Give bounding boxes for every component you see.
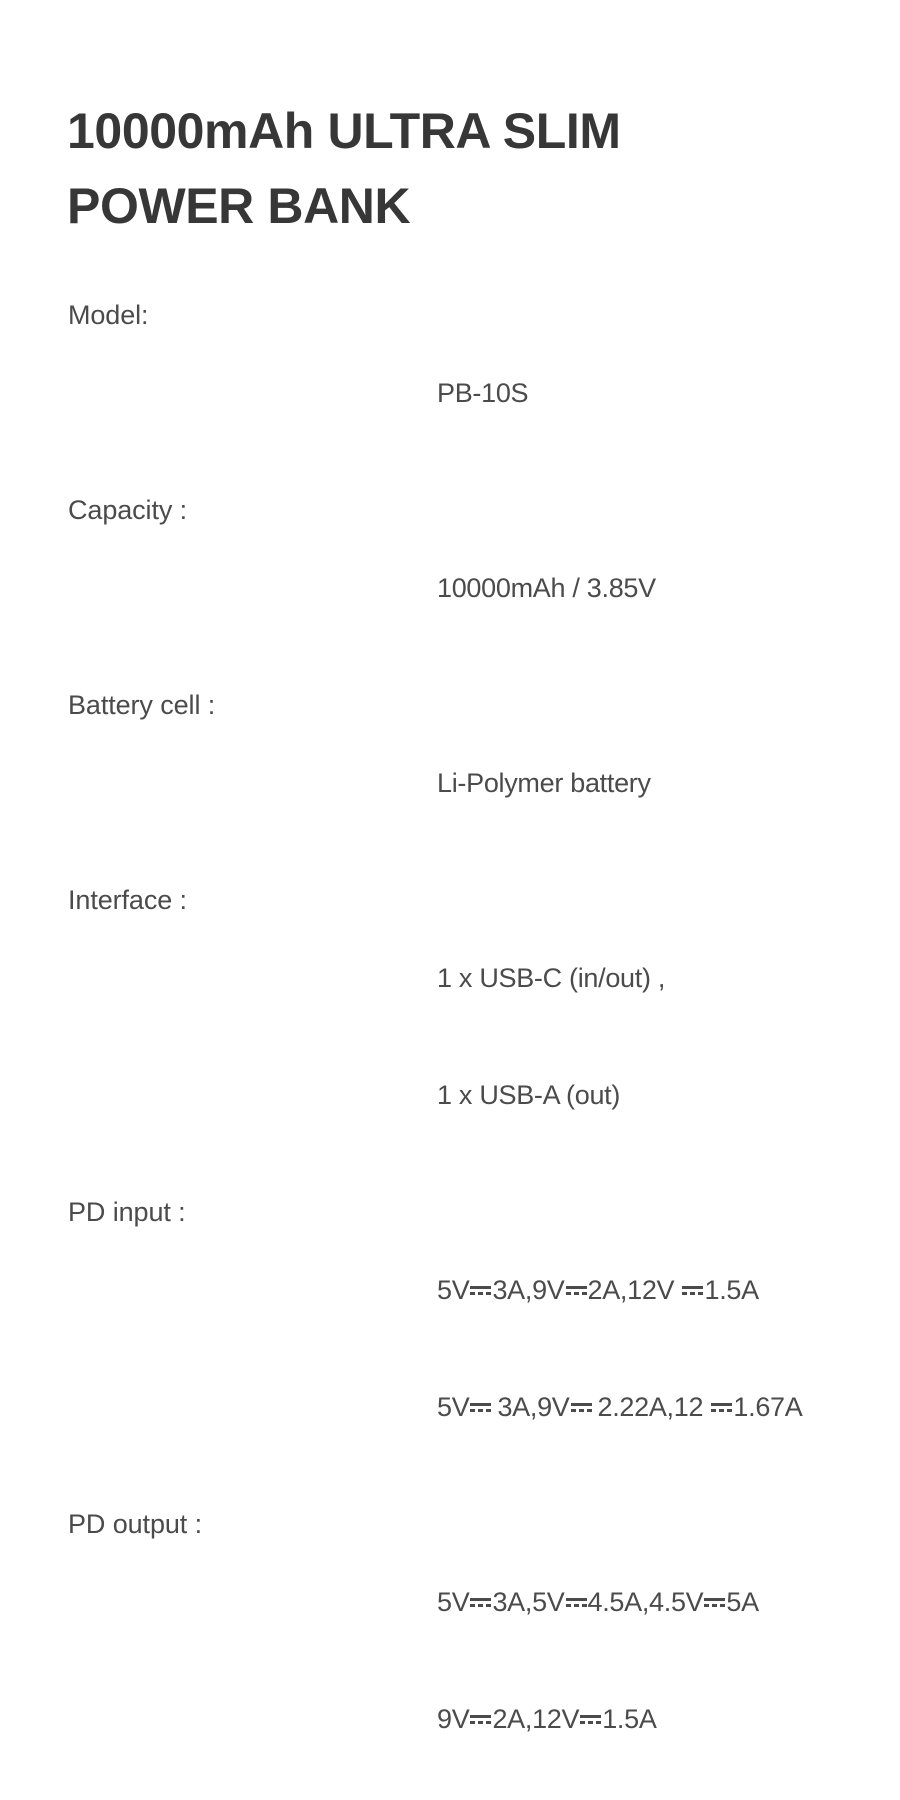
- direct-current-icon: [566, 1283, 587, 1297]
- direct-current-icon: [470, 1595, 491, 1609]
- spec-value: 10000mAh / 3.85V: [437, 569, 888, 608]
- spec-row-pd-output: PD output : 5V3A,5V4.5A,4.5V5A 9V2A,12V1…: [68, 1505, 888, 1800]
- spec-values-battery-cell: Li-Polymer battery: [437, 686, 888, 881]
- spec-label-capacity: Capacity :: [68, 491, 437, 530]
- spec-values-model: PB-10S: [437, 296, 888, 491]
- spec-label-pd-input: PD input :: [68, 1193, 437, 1232]
- spec-values-pd-output: 5V3A,5V4.5A,4.5V5A 9V2A,12V1.5A: [437, 1505, 888, 1800]
- page-title: 10000mAh ULTRA SLIM POWER BANK: [67, 94, 857, 244]
- title-line-1: 10000mAh ULTRA SLIM: [67, 94, 857, 169]
- direct-current-icon: [470, 1400, 491, 1414]
- spec-value-pd-input-line-2: 5V3A,9V2.22A,12 1.67A: [437, 1388, 888, 1427]
- spec-value: 1 x USB-C (in/out) ,: [437, 959, 888, 998]
- direct-current-icon: [682, 1283, 703, 1297]
- spec-row-battery-cell: Battery cell : Li-Polymer battery: [68, 686, 888, 881]
- spec-label-model: Model:: [68, 296, 437, 335]
- spec-label-battery-cell: Battery cell :: [68, 686, 437, 725]
- spec-label-pd-output: PD output :: [68, 1505, 437, 1544]
- product-spec-sheet: 10000mAh ULTRA SLIM POWER BANK Model: PB…: [0, 0, 900, 900]
- spec-values-pd-input: 5V3A,9V2A,12V 1.5A 5V3A,9V2.22A,12 1.67A: [437, 1193, 888, 1505]
- direct-current-icon: [571, 1400, 592, 1414]
- direct-current-icon: [580, 1712, 601, 1726]
- spec-value-pd-output-line-2: 9V2A,12V1.5A: [437, 1700, 888, 1739]
- spec-value: 1 x USB-A (out): [437, 1076, 888, 1115]
- spec-value: PB-10S: [437, 374, 888, 413]
- title-line-2: POWER BANK: [67, 169, 857, 244]
- specification-table: Model: PB-10S Capacity : 10000mAh / 3.85…: [68, 296, 888, 1800]
- spec-label-interface: Interface :: [68, 881, 437, 920]
- spec-value-pd-input-line-1: 5V3A,9V2A,12V 1.5A: [437, 1271, 888, 1310]
- spec-value: Li-Polymer battery: [437, 764, 888, 803]
- spec-values-interface: 1 x USB-C (in/out) , 1 x USB-A (out): [437, 881, 888, 1193]
- direct-current-icon: [470, 1712, 491, 1726]
- spec-row-model: Model: PB-10S: [68, 296, 888, 491]
- spec-row-interface: Interface : 1 x USB-C (in/out) , 1 x USB…: [68, 881, 888, 1193]
- spec-values-capacity: 10000mAh / 3.85V: [437, 491, 888, 686]
- direct-current-icon: [704, 1595, 725, 1609]
- spec-value-pd-output-line-1: 5V3A,5V4.5A,4.5V5A: [437, 1583, 888, 1622]
- direct-current-icon: [470, 1283, 491, 1297]
- spec-row-capacity: Capacity : 10000mAh / 3.85V: [68, 491, 888, 686]
- direct-current-icon: [566, 1595, 587, 1609]
- spec-row-pd-input: PD input : 5V3A,9V2A,12V 1.5A 5V3A,9V2.2…: [68, 1193, 888, 1505]
- direct-current-icon: [711, 1400, 732, 1414]
